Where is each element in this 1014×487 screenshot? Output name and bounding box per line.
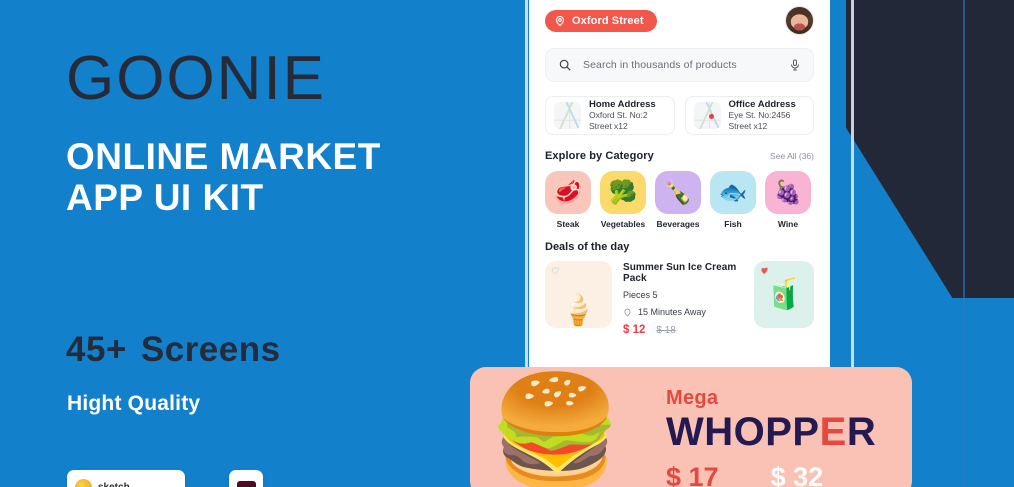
category-section-title: Explore by Category [545,150,654,162]
address-home-line-2: Street x12 [589,121,656,132]
deal-pieces: Pieces 5 [623,290,743,300]
promo-title-highlight: E [820,410,847,454]
hero-subtitle-line-1: ONLINE MARKET [66,136,496,177]
map-thumbnail-pin-icon [694,102,721,129]
location-pin-icon [623,308,632,317]
promo-eyebrow: Mega [666,387,876,410]
address-office-line-1: Eye St. No:2456 [729,110,796,121]
deal-distance-row: 15 Minutes Away [623,307,743,317]
deals-section-title: Deals of the day [545,241,814,253]
location-pin-icon [554,15,566,27]
promo-price-row: $ 17 $ 32 [666,462,876,487]
burger-image: 🍔 [488,377,622,485]
phone-header: Oxford Street [545,6,814,35]
user-avatar[interactable] [785,6,814,35]
badge-primary-label: sketch [98,482,130,487]
search-icon [558,58,572,72]
category-label-fish: Fish [710,219,756,229]
microphone-icon[interactable] [789,58,801,72]
location-pill[interactable]: Oxford Street [545,10,657,32]
hero-copy: GOONIE ONLINE MARKET APP UI KIT [66,48,496,219]
poster-canvas: GOONIE ONLINE MARKET APP UI KIT 45+Scree… [0,0,1014,487]
category-label-wine: Wine [765,219,811,229]
heart-filled-icon[interactable] [759,265,770,276]
category-item-steak[interactable]: 🥩 Steak [545,171,591,229]
deal-price-row: $ 12 $ 18 [623,324,743,336]
hero-subtitle: ONLINE MARKET APP UI KIT [66,136,496,219]
sketch-icon [75,479,92,487]
promo-copy: Mega WHOPPER $ 17 $ 32 [666,387,876,487]
screens-count: 45+ [66,330,127,369]
promo-price-primary: $ 17 [666,462,719,487]
deal-product-name: Summer Sun Ice Cream Pack [623,262,743,284]
map-thumbnail-icon [554,102,581,129]
heart-outline-icon[interactable] [550,265,561,276]
promo-card-whopper[interactable]: 🍔 Mega WHOPPER $ 17 $ 32 [470,367,912,487]
deal-distance-label: 15 Minutes Away [638,307,706,317]
decorative-rail-far-right [963,0,965,487]
vegetables-icon: 🥦 [600,171,646,214]
category-section-header: Explore by Category See All (36) [545,150,814,162]
search-bar[interactable]: Search in thousands of products [545,48,814,82]
beverages-icon: 🍾 [655,171,701,214]
app-icon [237,481,256,487]
wine-icon: 🍇 [765,171,811,214]
screens-count-label: 45+Screens [66,330,281,370]
deal-price-original: $ 18 [656,325,675,336]
category-label-beverages: Beverages [655,219,701,229]
quality-label: Hight Quality [67,392,200,416]
deal-product-image[interactable]: 🍦 [545,261,612,328]
promo-title-part-a: WHOPP [666,410,820,454]
category-label-vegetables: Vegetables [600,219,646,229]
deal-details: Summer Sun Ice Cream Pack Pieces 5 15 Mi… [623,261,743,336]
category-item-vegetables[interactable]: 🥦 Vegetables [600,171,646,229]
deal-secondary-image[interactable]: 🧃 [754,261,814,328]
category-item-wine[interactable]: 🍇 Wine [765,171,811,229]
badge-primary[interactable]: sketch [67,470,185,487]
steak-icon: 🥩 [545,171,591,214]
category-item-beverages[interactable]: 🍾 Beverages [655,171,701,229]
search-input-placeholder[interactable]: Search in thousands of products [583,59,778,71]
hero-subtitle-line-2: APP UI KIT [66,177,496,218]
promo-title-part-b: R [847,410,876,454]
address-home-title: Home Address [589,99,656,111]
deal-list: 🍦 Summer Sun Ice Cream Pack Pieces 5 15 … [545,261,814,336]
ice-cream-cones-image: 🍦 [560,296,597,326]
address-office-title: Office Address [729,99,796,111]
address-cards: Home Address Oxford St. No:2 Street x12 … [545,96,814,135]
address-card-home[interactable]: Home Address Oxford St. No:2 Street x12 [545,96,675,135]
promo-price-secondary: $ 32 [771,462,824,487]
fish-icon: 🐟 [710,171,756,214]
promo-title: WHOPPER [666,412,876,452]
address-card-office[interactable]: Office Address Eye St. No:2456 Street x1… [685,96,815,135]
phone-mockup-screen: Oxford Street Search in thousands of pro… [529,0,830,369]
format-badges: sketch [67,470,263,487]
location-pill-label: Oxford Street [572,15,644,27]
screens-word: Screens [141,330,281,369]
brand-title: GOONIE [66,48,496,110]
deal-price-current: $ 12 [623,324,645,336]
badge-secondary[interactable] [229,470,263,487]
address-home-line-1: Oxford St. No:2 [589,110,656,121]
category-see-all-link[interactable]: See All (36) [770,151,814,161]
address-office-line-2: Street x12 [729,121,796,132]
drink-cup-image: 🧃 [765,277,802,312]
category-list: 🥩 Steak 🥦 Vegetables 🍾 Beverages 🐟 Fish … [545,171,814,229]
category-label-steak: Steak [545,219,591,229]
category-item-fish[interactable]: 🐟 Fish [710,171,756,229]
